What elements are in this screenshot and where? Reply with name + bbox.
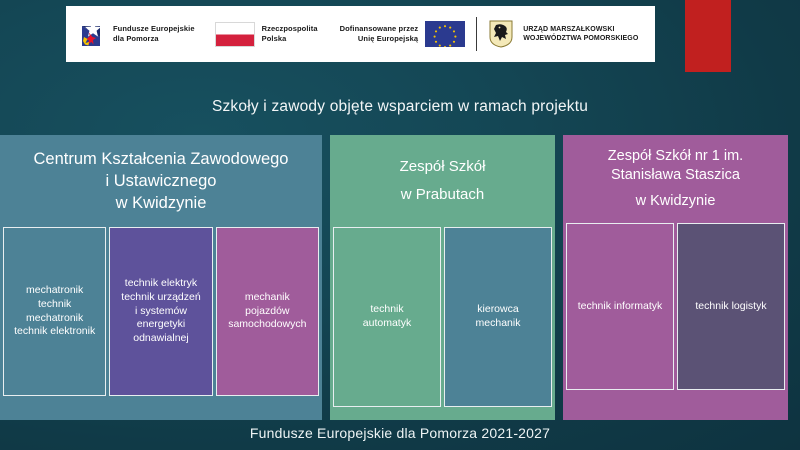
panel-2-title-line-1: Zespół Szkół: [330, 157, 555, 177]
profession-box[interactable]: mechanik pojazdów samochodowych: [216, 227, 319, 396]
footer-text: Fundusze Europejskie dla Pomorza 2021-20…: [0, 425, 800, 441]
panel-3-title-line-2: Stanisława Staszica: [563, 166, 788, 185]
logo-eu-funds-label: Fundusze Europejskie dla Pomorza: [113, 24, 195, 44]
logo-pomorskie: URZĄD MARSZAŁKOWSKI WOJEWÓDZTWA POMORSKI…: [488, 20, 638, 48]
profession-box[interactable]: technik informatyk: [566, 223, 674, 390]
panel-2-title-line-2: w Prabutach: [330, 185, 555, 205]
logo-eu-label: Dofinansowane przez Unię Europejską: [340, 24, 419, 44]
profession-box[interactable]: kierowca mechanik: [444, 227, 552, 407]
page-title: Szkoły i zawody objęte wsparciem w ramac…: [0, 98, 800, 116]
panel-1-title-line-2: i Ustawicznego: [0, 171, 322, 193]
logo-eu-funds: Fundusze Europejskie dla Pomorza: [80, 19, 195, 49]
panel-2-title: Zespół Szkół w Prabutach: [330, 135, 555, 227]
panel-3-title: Zespół Szkół nr 1 im. Stanisława Staszic…: [563, 135, 788, 223]
logo-eu: Dofinansowane przez Unię Europejską: [340, 21, 466, 47]
panel-3-title-line-1: Zespół Szkół nr 1 im.: [563, 147, 788, 166]
eu-flag-icon: [425, 21, 465, 47]
panel-1-title-line-3: w Kwidzynie: [0, 193, 322, 215]
panel-zs-nr1-staszica[interactable]: Zespół Szkół nr 1 im. Stanisława Staszic…: [563, 135, 788, 420]
panel-3-title-line-3: w Kwidzynie: [563, 192, 788, 211]
panel-1-title: Centrum Kształcenia Zawodowego i Ustawic…: [0, 135, 322, 227]
panel-3-boxes: technik informatyk technik logistyk: [563, 223, 788, 420]
panel-zs-prabuty[interactable]: Zespół Szkół w Prabutach technik automat…: [330, 135, 555, 420]
logo-pomorskie-label: URZĄD MARSZAŁKOWSKI WOJEWÓDZTWA POMORSKI…: [523, 25, 638, 43]
panel-1-title-line-1: Centrum Kształcenia Zawodowego: [0, 149, 322, 171]
panel-1-boxes: mechatronik technik mechatronik technik …: [0, 227, 322, 420]
poland-flag-icon: [215, 22, 255, 47]
profession-box[interactable]: technik automatyk: [333, 227, 441, 407]
pomorskie-griffin-crest-icon: [488, 20, 514, 48]
eu-funds-star-emblem-icon: [80, 19, 106, 49]
logo-poland: Rzeczpospolita Polska: [215, 22, 318, 47]
panel-2-boxes: technik automatyk kierowca mechanik: [330, 227, 555, 420]
funding-logo-bar: Fundusze Europejskie dla Pomorza Rzeczpo…: [66, 6, 655, 62]
profession-box[interactable]: mechatronik technik mechatronik technik …: [3, 227, 106, 396]
profession-box[interactable]: technik elektryk technik urządzeń i syst…: [109, 227, 212, 396]
schools-panels-container: Centrum Kształcenia Zawodowego i Ustawic…: [0, 135, 800, 420]
profession-box[interactable]: technik logistyk: [677, 223, 785, 390]
red-accent-rectangle: [685, 0, 731, 72]
logo-divider: [476, 17, 477, 51]
logo-poland-label: Rzeczpospolita Polska: [262, 24, 318, 44]
panel-ckziu-kwidzyn[interactable]: Centrum Kształcenia Zawodowego i Ustawic…: [0, 135, 322, 420]
